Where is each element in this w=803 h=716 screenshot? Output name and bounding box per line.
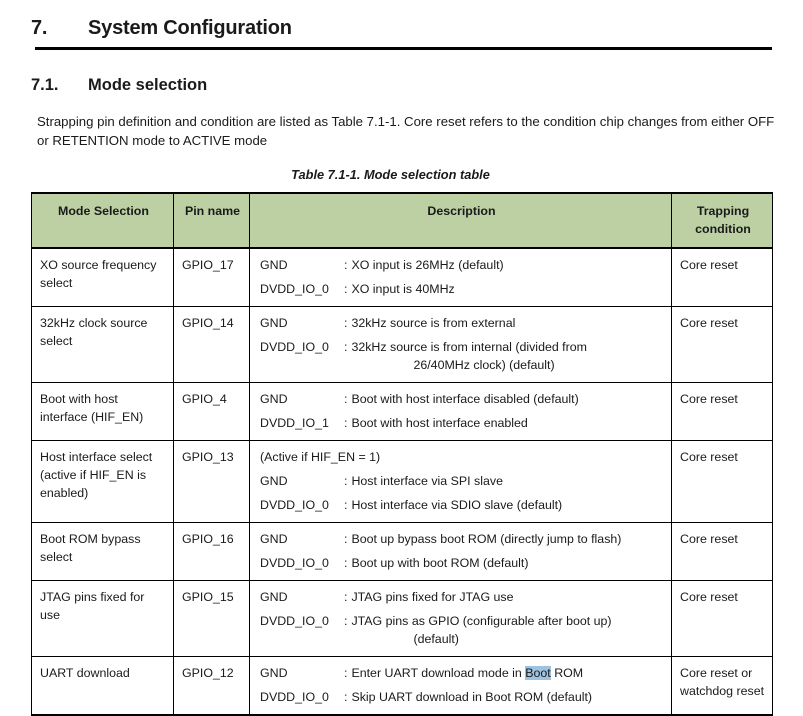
section-number: 7.1. (31, 76, 88, 95)
chapter-divider (35, 47, 772, 50)
description-pin-level-label: DVDD_IO_0 (260, 612, 344, 630)
cell-trapping-condition: Core reset (672, 307, 773, 383)
table-row: XO source frequency selectGPIO_17GND:XO … (32, 248, 773, 307)
description-colon: : (344, 390, 351, 408)
description-pin-level-label: GND (260, 530, 344, 548)
cell-pin-name: GPIO_17 (174, 248, 250, 307)
description-text: Boot with host interface disabled (defau… (351, 390, 665, 408)
cell-description: (Active if HIF_EN = 1)GND:Host interface… (250, 441, 672, 523)
cell-trapping-condition: Core reset (672, 581, 773, 657)
description-pin-level-label: GND (260, 256, 344, 274)
description-line: DVDD_IO_0:Skip UART download in Boot ROM… (260, 688, 665, 706)
description-colon: : (344, 280, 351, 298)
description-text: Enter UART download mode in Boot ROM (351, 664, 665, 682)
description-colon: : (344, 314, 351, 332)
description-pin-level-label: DVDD_IO_0 (260, 338, 344, 356)
cell-description: GND:32kHz source is from externalDVDD_IO… (250, 307, 672, 383)
description-text: Skip UART download in Boot ROM (default) (351, 688, 665, 706)
description-text: Boot with host interface enabled (351, 414, 665, 432)
cell-mode-selection: Host interface select (active if HIF_EN … (32, 441, 174, 523)
description-text: JTAG pins as GPIO (configurable after bo… (351, 612, 665, 648)
cell-trapping-condition: Core reset (672, 523, 773, 581)
description-line: GND:Enter UART download mode in Boot ROM (260, 664, 665, 682)
cell-pin-name: GPIO_4 (174, 383, 250, 441)
description-colon: : (344, 496, 351, 514)
description-line: GND:XO input is 26MHz (default) (260, 256, 665, 274)
description-colon: : (344, 530, 351, 548)
selected-text-highlight[interactable]: Boot (525, 666, 551, 680)
section-heading: 7.1. Mode selection (31, 76, 772, 95)
table-row: Boot with host interface (HIF_EN)GPIO_4G… (32, 383, 773, 441)
cell-pin-name: GPIO_16 (174, 523, 250, 581)
mode-selection-table: Mode Selection Pin name Description Trap… (31, 192, 773, 716)
column-header-trapping-condition: Trapping condition (672, 193, 773, 248)
description-text: Host interface via SDIO slave (default) (351, 496, 665, 514)
description-line: DVDD_IO_0:JTAG pins as GPIO (configurabl… (260, 612, 665, 648)
cell-pin-name: GPIO_12 (174, 657, 250, 716)
description-colon: : (344, 688, 351, 706)
table-head: Mode Selection Pin name Description Trap… (32, 193, 773, 248)
description-pin-level-label: DVDD_IO_0 (260, 280, 344, 298)
cell-mode-selection: UART download (32, 657, 174, 716)
description-colon: : (344, 472, 351, 490)
description-pin-level-label: GND (260, 390, 344, 408)
description-pin-level-label: GND (260, 314, 344, 332)
column-header-mode-selection: Mode Selection (32, 193, 174, 248)
table-body: XO source frequency selectGPIO_17GND:XO … (32, 248, 773, 715)
description-colon: : (344, 612, 351, 630)
table-header-row: Mode Selection Pin name Description Trap… (32, 193, 773, 248)
description-line: DVDD_IO_0:Host interface via SDIO slave … (260, 496, 665, 514)
description-text: 32kHz source is from internal (divided f… (351, 338, 665, 374)
column-header-pin-name: Pin name (174, 193, 250, 248)
description-line: GND:JTAG pins fixed for JTAG use (260, 588, 665, 606)
description-pin-level-label: DVDD_IO_0 (260, 554, 344, 572)
description-continuation: (default) (351, 630, 665, 648)
description-colon: : (344, 338, 351, 356)
cell-pin-name: GPIO_13 (174, 441, 250, 523)
description-colon: : (344, 588, 351, 606)
cell-trapping-condition: Core reset (672, 441, 773, 523)
cell-trapping-condition: Core reset (672, 383, 773, 441)
description-continuation: 26/40MHz clock) (default) (351, 356, 665, 374)
description-text: JTAG pins fixed for JTAG use (351, 588, 665, 606)
description-colon: : (344, 414, 351, 432)
table-row: 32kHz clock source selectGPIO_14GND:32kH… (32, 307, 773, 383)
description-pin-level-label: DVDD_IO_0 (260, 688, 344, 706)
description-note: (Active if HIF_EN = 1) (260, 448, 665, 466)
table-caption: Table 7.1-1. Mode selection table (31, 167, 772, 182)
description-line: DVDD_IO_0:32kHz source is from internal … (260, 338, 665, 374)
table-row: UART downloadGPIO_12GND:Enter UART downl… (32, 657, 773, 716)
description-line: DVDD_IO_0:XO input is 40MHz (260, 280, 665, 298)
description-text: Boot up with boot ROM (default) (351, 554, 665, 572)
description-pin-level-label: GND (260, 472, 344, 490)
cell-mode-selection: JTAG pins fixed for use (32, 581, 174, 657)
description-pin-level-label: DVDD_IO_1 (260, 414, 344, 432)
intro-paragraph: Strapping pin definition and condition a… (37, 112, 779, 150)
table-row: JTAG pins fixed for useGPIO_15GND:JTAG p… (32, 581, 773, 657)
description-pin-level-label: GND (260, 664, 344, 682)
description-text: Host interface via SPI slave (351, 472, 665, 490)
description-text: XO input is 40MHz (351, 280, 665, 298)
cell-mode-selection: XO source frequency select (32, 248, 174, 307)
cell-trapping-condition: Core reset or watchdog reset (672, 657, 773, 716)
description-colon: : (344, 664, 351, 682)
cell-description: GND:JTAG pins fixed for JTAG useDVDD_IO_… (250, 581, 672, 657)
cell-description: GND:Enter UART download mode in Boot ROM… (250, 657, 672, 716)
description-text: XO input is 26MHz (default) (351, 256, 665, 274)
description-line: GND:Boot up bypass boot ROM (directly ju… (260, 530, 665, 548)
cell-description: GND:Boot with host interface disabled (d… (250, 383, 672, 441)
table-row: Boot ROM bypass selectGPIO_16GND:Boot up… (32, 523, 773, 581)
description-text: Boot up bypass boot ROM (directly jump t… (351, 530, 665, 548)
description-pin-level-label: DVDD_IO_0 (260, 496, 344, 514)
cell-mode-selection: Boot ROM bypass select (32, 523, 174, 581)
description-colon: : (344, 256, 351, 274)
cell-description: GND:Boot up bypass boot ROM (directly ju… (250, 523, 672, 581)
chapter-number: 7. (31, 17, 88, 40)
cell-mode-selection: 32kHz clock source select (32, 307, 174, 383)
table-row: Host interface select (active if HIF_EN … (32, 441, 773, 523)
description-line: GND:32kHz source is from external (260, 314, 665, 332)
description-line: DVDD_IO_0:Boot up with boot ROM (default… (260, 554, 665, 572)
description-colon: : (344, 554, 351, 572)
cell-description: GND:XO input is 26MHz (default)DVDD_IO_0… (250, 248, 672, 307)
cell-mode-selection: Boot with host interface (HIF_EN) (32, 383, 174, 441)
chapter-title: System Configuration (88, 17, 292, 40)
cell-pin-name: GPIO_14 (174, 307, 250, 383)
document-page: 7. System Configuration 7.1. Mode select… (0, 0, 803, 713)
description-text: 32kHz source is from external (351, 314, 665, 332)
chapter-heading: 7. System Configuration (31, 0, 772, 40)
description-line: DVDD_IO_1:Boot with host interface enabl… (260, 414, 665, 432)
description-pin-level-label: GND (260, 588, 344, 606)
section-title: Mode selection (88, 76, 207, 95)
column-header-description: Description (250, 193, 672, 248)
cell-pin-name: GPIO_15 (174, 581, 250, 657)
cell-trapping-condition: Core reset (672, 248, 773, 307)
description-line: GND:Host interface via SPI slave (260, 472, 665, 490)
description-line: GND:Boot with host interface disabled (d… (260, 390, 665, 408)
